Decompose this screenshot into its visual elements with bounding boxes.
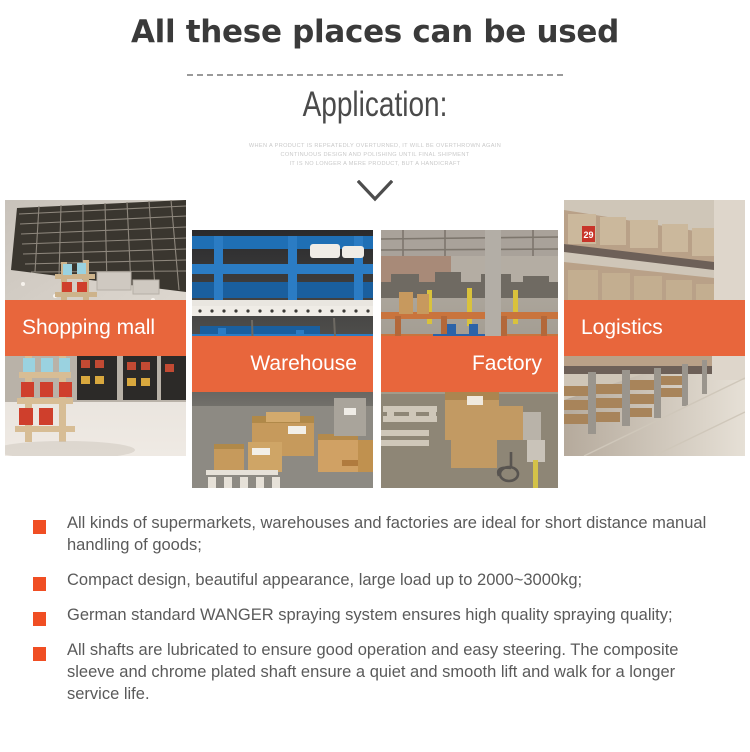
application-heading: Application: — [75, 85, 675, 125]
subtitle-block: WHEN A PRODUCT IS REPEATEDLY OVERTURNED,… — [0, 142, 750, 169]
panel-label-shopping-mall: Shopping mall — [5, 300, 186, 356]
list-item: All shafts are lubricated to ensure good… — [0, 639, 750, 705]
subtitle-line-1: WHEN A PRODUCT IS REPEATEDLY OVERTURNED,… — [0, 142, 750, 151]
subtitle-line-2: CONTINUOUS DESIGN AND POLISHING UNTIL FI… — [0, 151, 750, 160]
list-item: German standard WANGER spraying system e… — [0, 604, 750, 626]
panel-label-warehouse: Warehouse — [192, 336, 373, 392]
feature-bullet-list: All kinds of supermarkets, warehouses an… — [0, 512, 750, 718]
chevron-down-icon — [357, 180, 393, 202]
panel-label-factory: Factory — [381, 336, 558, 392]
list-item: Compact design, beautiful appearance, la… — [0, 569, 750, 591]
bullet-square-icon — [33, 577, 46, 591]
page-title: All these places can be used — [0, 14, 750, 50]
list-item-text: Compact design, beautiful appearance, la… — [67, 569, 582, 591]
panel-label-logistics: Logistics — [564, 300, 745, 356]
list-item-text: All kinds of supermarkets, warehouses an… — [67, 512, 717, 556]
dashed-divider — [187, 74, 563, 76]
application-panel-factory[interactable]: Factory — [381, 230, 558, 488]
bullet-square-icon — [33, 647, 46, 661]
panel-label-text: Warehouse — [250, 352, 357, 376]
subtitle-line-3: IT IS NO LONGER A MERE PRODUCT, BUT A HA… — [0, 160, 750, 169]
list-item: All kinds of supermarkets, warehouses an… — [0, 512, 750, 556]
application-panel-logistics[interactable]: 29 Logistics — [564, 200, 745, 456]
application-panel-shopping-mall[interactable]: Shopping mall — [5, 200, 186, 456]
bullet-square-icon — [33, 612, 46, 626]
application-panel-warehouse[interactable]: Warehouse — [192, 230, 373, 488]
panel-label-text: Logistics — [581, 316, 663, 340]
bullet-square-icon — [33, 520, 46, 534]
list-item-text: German standard WANGER spraying system e… — [67, 604, 673, 626]
panel-label-text: Factory — [472, 352, 542, 376]
panel-label-text: Shopping mall — [22, 316, 155, 340]
list-item-text: All shafts are lubricated to ensure good… — [67, 639, 717, 705]
svg-text:29: 29 — [583, 230, 593, 240]
